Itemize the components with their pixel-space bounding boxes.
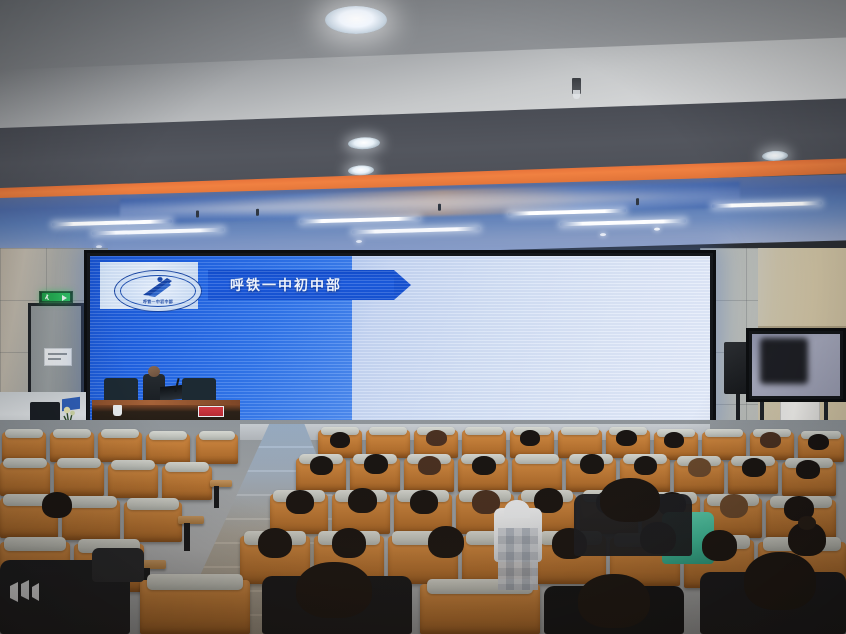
school-emblem-icon: 呼铁一中初中部 (114, 270, 202, 312)
tv-reflection (760, 338, 808, 384)
audience-head (296, 562, 372, 618)
audience-head (42, 492, 72, 518)
backpack-handle (504, 500, 530, 518)
audience-head (348, 488, 377, 513)
seat[interactable] (54, 462, 104, 496)
emergency-exit-sign (39, 291, 73, 303)
name-card (198, 406, 224, 417)
exit-arrow-icon (62, 295, 67, 301)
ceiling-spotlight-icon (356, 240, 362, 243)
audience-head (286, 490, 314, 514)
ceiling-hanger (636, 198, 639, 205)
seat[interactable] (98, 432, 142, 462)
emblem-text: 呼铁一中初中部 (143, 299, 173, 305)
fluorescent-tube (352, 227, 480, 235)
fluorescent-tube (560, 219, 686, 227)
ceiling-downlight-icon (325, 6, 387, 34)
audience-head (720, 494, 748, 518)
audience-head (742, 458, 766, 477)
audience-head (578, 574, 650, 628)
seat[interactable] (420, 584, 540, 634)
emblem-figure-icon (141, 276, 175, 298)
audience-head (426, 430, 447, 446)
handbag (92, 548, 144, 582)
seat[interactable] (124, 502, 182, 542)
audience-head (634, 456, 657, 475)
audience-head (580, 454, 604, 474)
seat[interactable] (146, 434, 190, 464)
hair-bun (798, 516, 816, 530)
seat[interactable] (0, 462, 50, 496)
seat[interactable] (108, 464, 158, 498)
ceiling-hanger (438, 204, 441, 211)
armrest-post (214, 486, 219, 508)
audience-head (428, 526, 464, 558)
ceiling-hanger (196, 210, 199, 217)
soffit-downlight-icon (348, 137, 380, 150)
stage-chair (182, 378, 216, 402)
audience-head (364, 454, 388, 474)
ceiling-spotlight-icon (654, 228, 660, 231)
ceiling-spotlight-icon (600, 233, 606, 236)
armrest-post (184, 523, 190, 551)
ceiling-hanger (256, 209, 259, 216)
stage-chair (104, 378, 138, 402)
seat[interactable] (140, 580, 250, 634)
audience-head (688, 458, 711, 477)
audience-head (418, 456, 441, 475)
audience-head (796, 460, 820, 479)
audience-head (616, 430, 637, 446)
audience-head (808, 434, 829, 450)
audience-head (760, 432, 781, 448)
audience-head (472, 456, 496, 475)
laptop (160, 385, 182, 401)
exit-sign-light (42, 293, 70, 301)
seat[interactable] (512, 458, 562, 492)
fluorescent-tube (92, 228, 224, 236)
audience-head (330, 432, 350, 448)
audience-head (258, 528, 292, 558)
school-name-text: 呼铁一中初中部 (230, 275, 342, 295)
jacket-logo-icon (8, 580, 44, 606)
drinking-cup (113, 405, 122, 416)
audience-head (600, 478, 660, 522)
seat-armrest (178, 516, 204, 524)
running-man-icon (45, 294, 50, 300)
seat[interactable] (196, 434, 238, 464)
fluorescent-tube (52, 219, 172, 226)
slide-title-banner: 呼铁一中初中部 (208, 270, 394, 300)
audience-head (744, 552, 816, 610)
audience-head (520, 430, 540, 446)
seat[interactable] (162, 466, 212, 500)
audience-head (332, 528, 366, 558)
audience-head (410, 490, 438, 514)
audience-head (310, 456, 333, 475)
plaid-scarf (498, 528, 538, 590)
presenter-head (148, 366, 160, 377)
sprinkler-head-icon (572, 78, 581, 94)
school-logo-plate: 呼铁一中初中部 (100, 262, 198, 309)
door-notice-sign (44, 348, 72, 366)
lecture-hall-photo: 呼铁一中初中部 呼铁一中初中部 CONTENTS 01 教师招考如何面试 (0, 0, 846, 634)
audience-head (664, 432, 684, 448)
audience-head (702, 530, 737, 561)
